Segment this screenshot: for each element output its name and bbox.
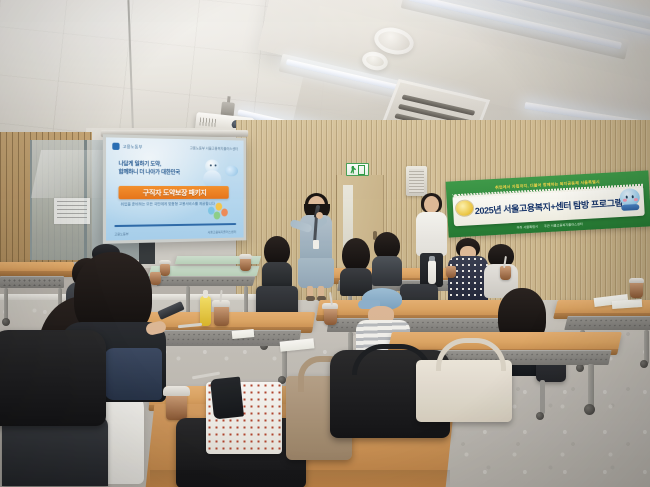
cup-lid <box>239 254 252 259</box>
table-apron <box>157 276 256 286</box>
attendee <box>372 232 402 282</box>
slide-content: 고용노동부 고용노동부 서울고용복지플러스센터 나답게 일하기 도약, 함께하니… <box>106 137 244 240</box>
iced-coffee-cup <box>324 308 337 325</box>
tote-flap <box>210 377 244 420</box>
slide-logo: 고용노동부 <box>112 143 142 151</box>
exit-door-icon <box>358 165 365 175</box>
banner-sub-right: 주관 서울고용복지플러스센터 <box>544 221 583 228</box>
sports-drink-bottle <box>200 296 211 326</box>
table-apron <box>0 276 64 288</box>
table-apron <box>327 318 511 332</box>
table-caster <box>584 404 595 415</box>
exit-sign-icon <box>346 163 369 176</box>
slide-logo-text: 고용노동부 <box>123 143 143 150</box>
coffee-cup <box>166 394 187 420</box>
table-apron <box>564 316 650 330</box>
presenter <box>296 196 338 302</box>
slide-headline: 나답게 일하기 도약, 함께하니 더 나아가 대한민국 <box>119 160 207 177</box>
drink-cup <box>500 266 511 280</box>
speaker-grill <box>409 169 424 193</box>
staff-top <box>416 212 447 256</box>
slide-band-text: 구직자 도약보장 패키지 <box>143 187 207 197</box>
table-caster <box>640 360 648 368</box>
mascot-body <box>203 170 221 187</box>
cup-lid <box>629 278 644 283</box>
table <box>388 332 622 350</box>
attendee-hair <box>342 238 370 272</box>
speaker-icon <box>406 166 427 196</box>
table-leg <box>244 286 248 314</box>
presenter-shoe <box>306 296 315 301</box>
mascot-eye <box>210 164 212 166</box>
table-caster <box>2 318 10 326</box>
black-drawstring-bag <box>0 330 106 426</box>
banner-title: 2025년 서울고용복지+센터 탐방 프로그램 <box>474 195 622 216</box>
slide-subtext: 취업을 준비하는 모든 국민에게 맞춤형 고용서비스를 제공합니다 <box>121 202 220 208</box>
projection-screen: 고용노동부 고용노동부 서울고용복지플러스센터 나답게 일하기 도약, 함께하니… <box>103 134 246 244</box>
attendee <box>262 236 292 284</box>
attendee <box>340 238 372 290</box>
posted-notice <box>54 198 90 224</box>
table-leg <box>588 364 594 408</box>
staff-head <box>424 196 439 213</box>
attendee-top <box>262 262 292 288</box>
slide-footer-left: 고용노동부 <box>114 232 128 236</box>
table-caster <box>576 364 584 372</box>
table <box>317 300 520 316</box>
water-bottle <box>428 260 436 284</box>
chair-leg <box>540 380 545 414</box>
slide-top-right-text: 고용노동부 서울고용복지플러스센터 <box>190 145 238 151</box>
chair[interactable] <box>2 416 108 486</box>
presenter-skirt <box>298 258 334 288</box>
attendee-top <box>448 256 488 304</box>
bottle-cap <box>203 290 208 298</box>
table-leg <box>644 330 649 364</box>
slide-footer-right: 서울고용복지플러스센터 <box>208 230 237 234</box>
name-badge <box>313 240 319 249</box>
drink-cup <box>240 258 251 271</box>
ministry-logo-icon <box>112 143 119 150</box>
drink-cup <box>446 266 456 278</box>
table-shadow <box>150 470 450 487</box>
photo-scene: 고용노동부 고용노동부 서울고용복지플러스센터 나답게 일하기 도약, 함께하니… <box>0 0 650 487</box>
attendee-jeans <box>104 348 162 400</box>
attendee-top <box>372 256 402 286</box>
banner-mascot-icon <box>617 188 642 215</box>
mascot-scarf <box>621 204 639 211</box>
running-person-icon <box>350 166 356 174</box>
bottle-cap <box>429 256 435 261</box>
iced-coffee-cup <box>214 306 229 326</box>
table-leg <box>4 288 8 320</box>
drink-cup <box>630 282 643 298</box>
chair-caster <box>536 412 544 420</box>
slide-headline-line2: 함께하니 더 나아가 대한민국 <box>119 169 180 176</box>
slide-headline-line1: 나답게 일하기 도약, <box>119 161 162 168</box>
mascot-eye <box>215 164 217 166</box>
slide-mascot-icon <box>202 159 223 189</box>
banner-sub-left: 주최 서울특별시 <box>516 224 538 230</box>
slide-balloons-icon <box>208 203 231 225</box>
event-banner: 취업에서 자립까지, 더불어 함께하는 복지공동체 서울특별시 2025년 서울… <box>446 170 650 237</box>
cup-lid <box>163 386 190 396</box>
slide-title-band: 구직자 도약보장 패키지 <box>119 186 229 199</box>
slide-bubble-icon <box>225 166 238 177</box>
